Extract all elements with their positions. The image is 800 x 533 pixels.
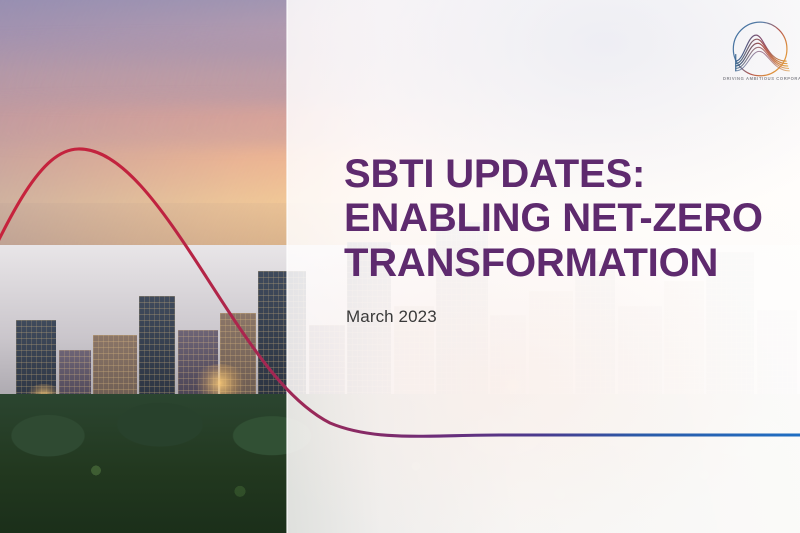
sbti-logo-tagline: DRIVING AMBITIOUS CORPORATE CLIMATE ACTI…: [723, 76, 800, 81]
title-line-1: SBTi Updates:: [344, 152, 774, 196]
slide-date: March 2023: [346, 307, 774, 327]
title-line-3: Transformation: [344, 241, 774, 285]
title-block: SBTi Updates: Enabling Net-Zero Transfor…: [344, 152, 774, 327]
presentation-slide: SBTi Updates: Enabling Net-Zero Transfor…: [0, 0, 800, 533]
title-line-2: Enabling Net-Zero: [344, 196, 774, 240]
page-title: SBTi Updates: Enabling Net-Zero Transfor…: [344, 152, 774, 285]
slide-footer: PARTNER ORGANIZATIONS IN COLLABORATION C…: [0, 443, 800, 533]
